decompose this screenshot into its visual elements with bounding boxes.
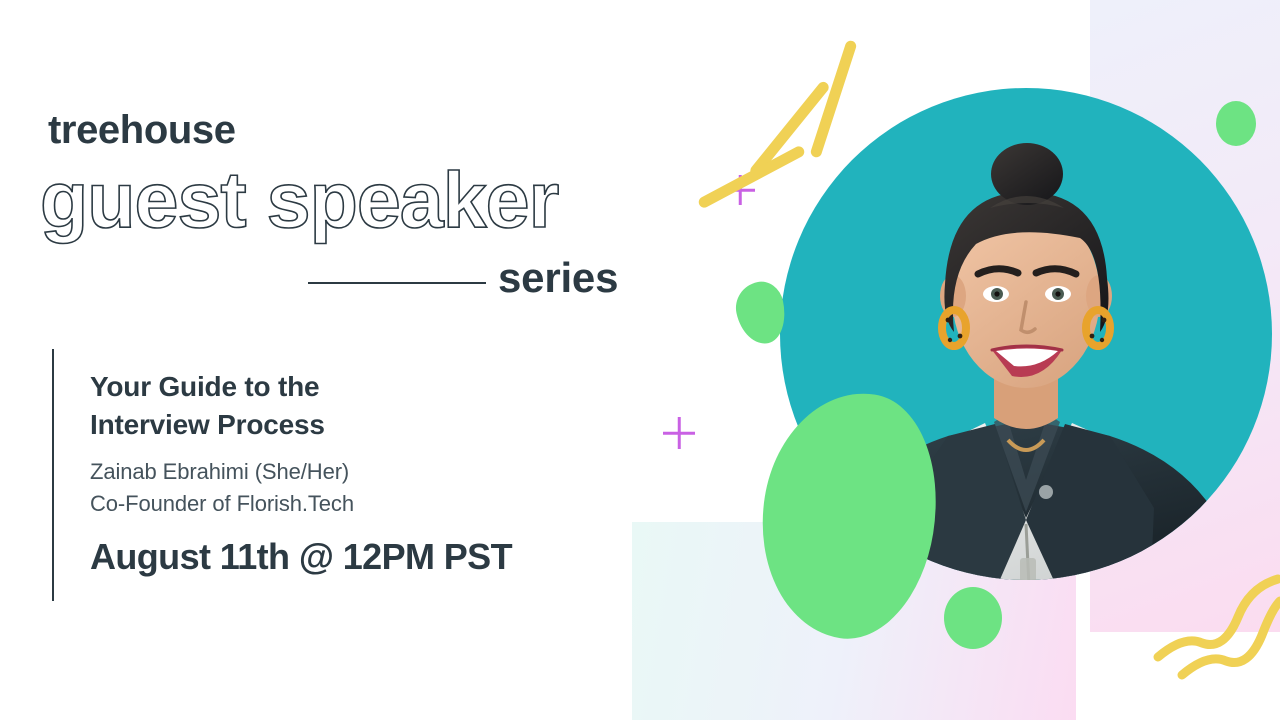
green-circle-small-shape xyxy=(944,587,1002,649)
talk-title: Your Guide to the Interview Process xyxy=(90,368,610,444)
brand-wordmark: treehouse xyxy=(48,108,236,153)
event-datetime: August 11th @ 12PM PST xyxy=(90,536,610,578)
wave-icon-group xyxy=(1150,565,1280,685)
series-divider-rule xyxy=(308,282,486,284)
plus-icon-middle xyxy=(663,417,695,449)
headline-guest-speaker: guest speaker xyxy=(40,160,558,239)
left-accent-bar xyxy=(52,349,54,601)
speaker-role: Co-Founder of Florish.Tech xyxy=(90,488,610,520)
event-details-block: Your Guide to the Interview Process Zain… xyxy=(90,368,610,578)
speaker-name: Zainab Ebrahimi (She/Her) xyxy=(90,456,610,488)
slide-canvas: treehouse guest speaker series Your Guid… xyxy=(0,0,1280,720)
series-label: series xyxy=(498,254,618,302)
